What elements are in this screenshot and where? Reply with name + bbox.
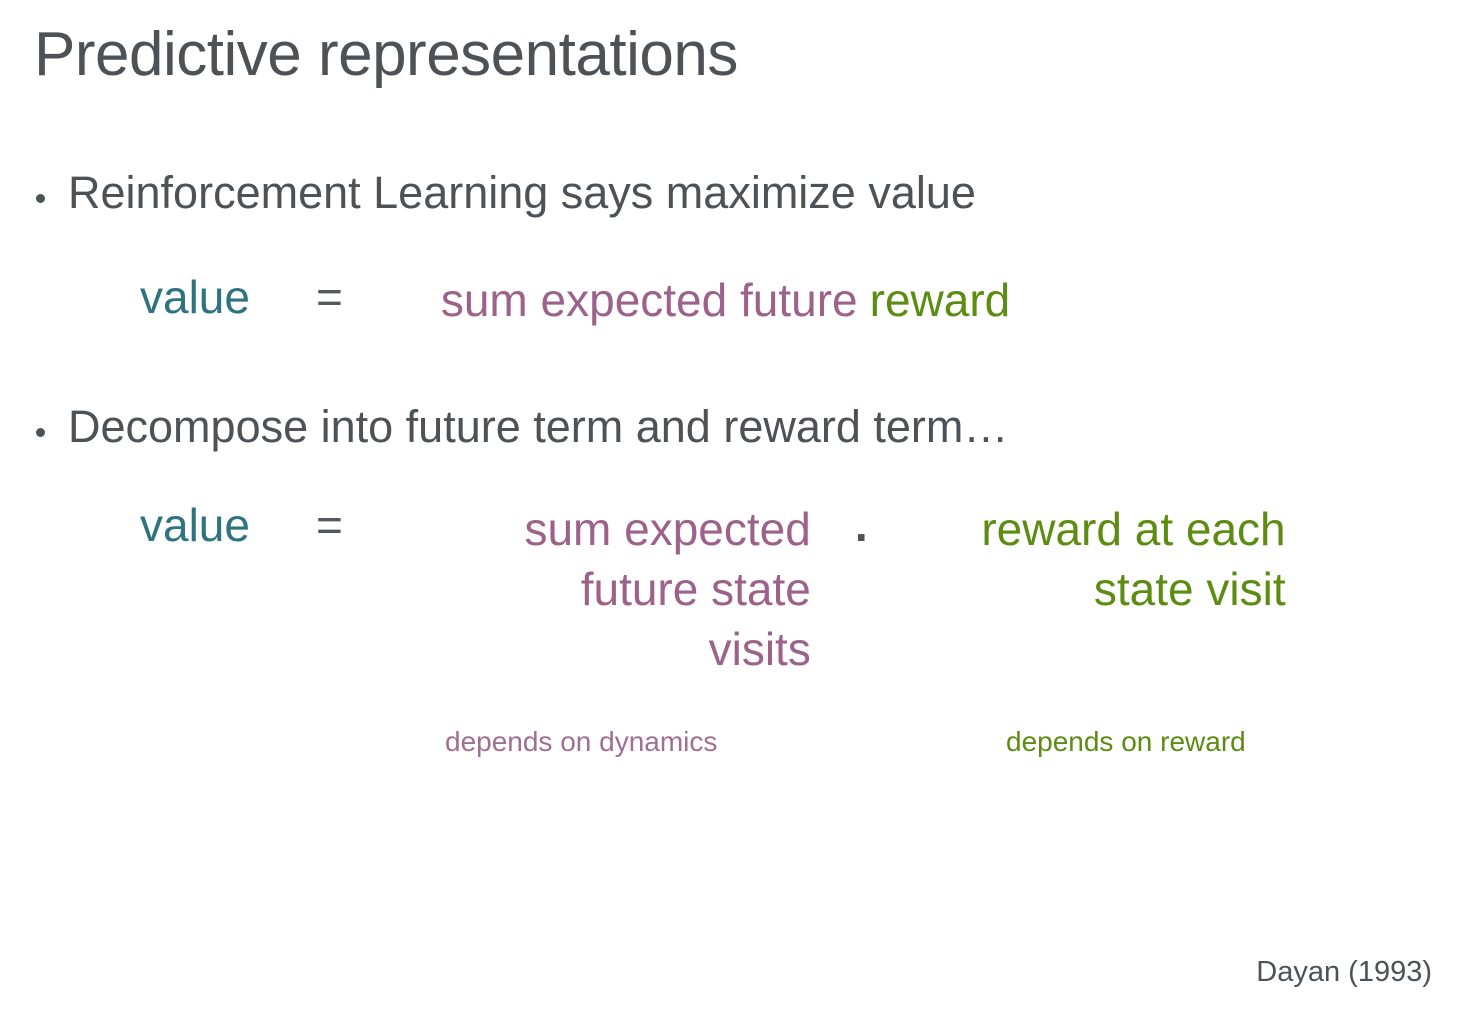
slide-canvas: Predictive representations Reinforcement… bbox=[0, 0, 1460, 1017]
caption-depends-on-reward: depends on reward bbox=[1006, 727, 1246, 758]
equation-2-reward-line-1: reward at each bbox=[894, 500, 1286, 560]
caption-depends-on-dynamics: depends on dynamics bbox=[445, 727, 717, 758]
equation-2-multiply-dot: . bbox=[855, 500, 868, 552]
equation-2-future-line-2: future state bbox=[439, 560, 811, 620]
bullet-dot-icon bbox=[36, 194, 45, 203]
equation-2-future-line-1: sum expected bbox=[439, 500, 811, 560]
equation-2-future-term: sum expected future state visits bbox=[439, 500, 811, 679]
equation-2-value-term: value bbox=[140, 500, 250, 552]
citation-reference: Dayan (1993) bbox=[1256, 957, 1432, 989]
equation-2-future-line-3: visits bbox=[439, 620, 811, 680]
equation-1: value = sum expected future reward bbox=[140, 272, 1010, 328]
equation-1-value-term: value bbox=[140, 272, 250, 324]
equation-1-reward-term: reward bbox=[870, 272, 1011, 328]
equation-2-equals-sign: = bbox=[316, 500, 343, 552]
equation-2-reward-line-2: state visit bbox=[894, 560, 1286, 620]
equation-2: value = sum expected future state visits… bbox=[140, 500, 1286, 679]
bullet-1-label: Reinforcement Learning says maximize val… bbox=[68, 168, 976, 218]
page-title: Predictive representations bbox=[34, 22, 738, 87]
equation-2-reward-term: reward at each state visit bbox=[894, 500, 1286, 620]
equation-1-equals-sign: = bbox=[316, 272, 343, 324]
bullet-item-2: Decompose into future term and reward te… bbox=[36, 402, 1008, 452]
bullet-item-1: Reinforcement Learning says maximize val… bbox=[36, 168, 976, 218]
bullet-2-label: Decompose into future term and reward te… bbox=[68, 402, 1008, 452]
equation-1-future-term: sum expected future bbox=[441, 272, 858, 328]
bullet-dot-icon bbox=[36, 428, 45, 437]
